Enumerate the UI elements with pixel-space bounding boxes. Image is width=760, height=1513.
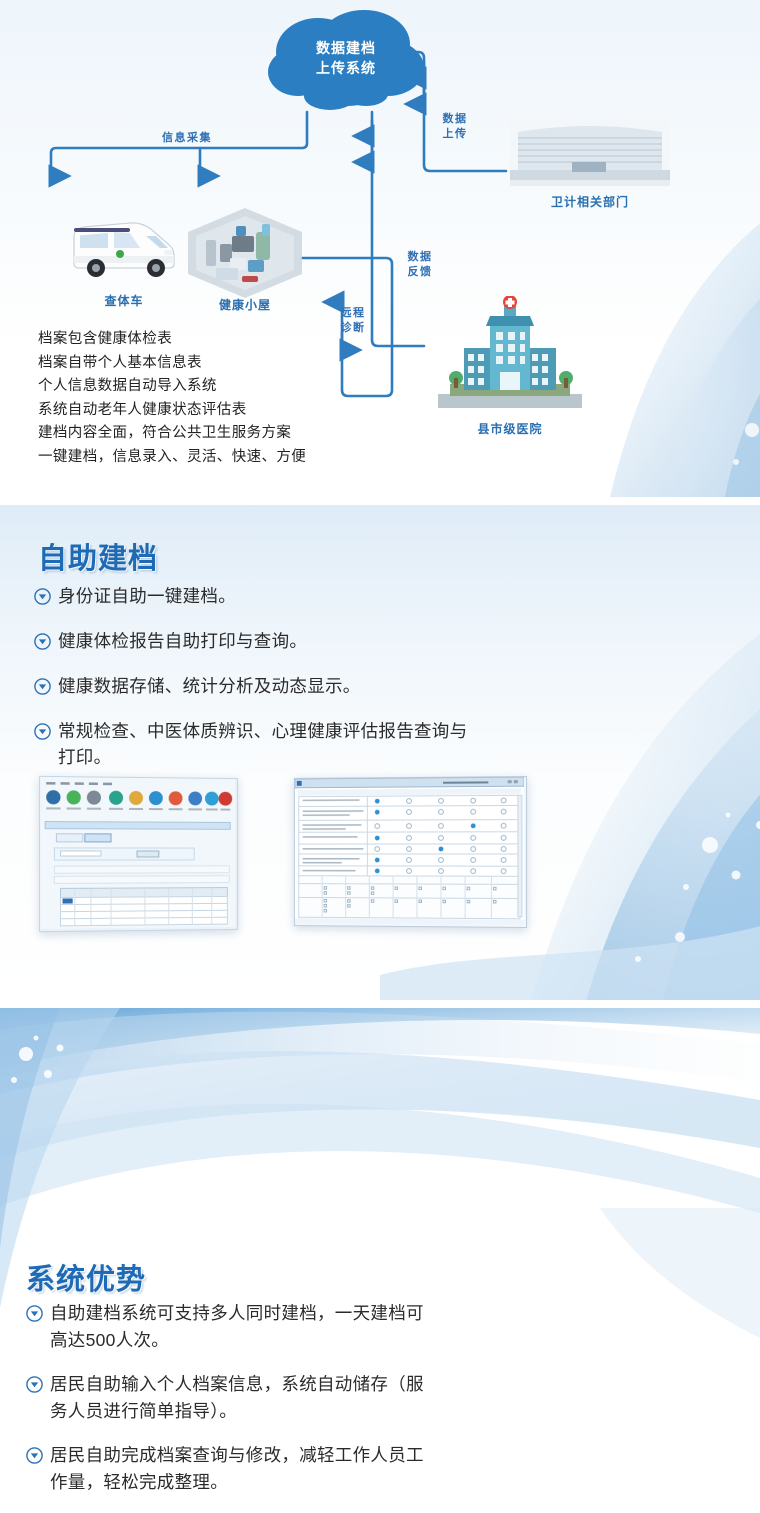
caption-hospital: 县市级医院 — [430, 420, 590, 437]
list-item: 健康数据存储、统计分析及动态显示。 — [34, 673, 524, 699]
feature-line: 档案包含健康体检表 — [38, 328, 418, 352]
section-divider-1 — [0, 497, 760, 505]
list-item-text: 常规检查、中医体质辨识、心理健康评估报告查询与打印。 — [58, 718, 468, 770]
diagram-feature-list: 档案包含健康体检表 档案自带个人基本信息表 个人信息数据自动导入系统 系统自动老… — [38, 328, 418, 469]
screenshot-elderly-health-assessment-form[interactable] — [294, 776, 527, 928]
feature-line: 系统自动老年人健康状态评估表 — [38, 399, 418, 423]
chevron-down-circle-icon — [26, 1305, 43, 1322]
chevron-down-circle-icon — [34, 723, 51, 740]
list-item-text: 健康数据存储、统计分析及动态显示。 — [58, 673, 361, 699]
flow-label-information-collection: 信息采集 — [162, 131, 212, 146]
list-item: 自助建档系统可支持多人同时建档，一天建档可高达500人次。 — [26, 1300, 466, 1354]
page-root: 数据建档 上传系统 信息采集 数据 上传 数据 反馈 远程 诊断 — [0, 0, 760, 1513]
list-item: 身份证自助一键建档。 — [34, 583, 524, 609]
list-item: 健康体检报告自助打印与查询。 — [34, 628, 524, 654]
screenshot-archive-management-content — [40, 777, 235, 929]
feature-line: 个人信息数据自动导入系统 — [38, 375, 418, 399]
list-item-text: 健康体检报告自助打印与查询。 — [58, 628, 307, 654]
section3-bullet-list: 自助建档系统可支持多人同时建档，一天建档可高达500人次。 居民自助输入个人档案… — [26, 1300, 466, 1513]
section-data-flow-diagram: 数据建档 上传系统 信息采集 数据 上传 数据 反馈 远程 诊断 — [0, 0, 760, 497]
chevron-down-circle-icon — [26, 1376, 43, 1393]
health-cabin-image — [186, 206, 304, 300]
screenshot-archive-management-window[interactable] — [39, 776, 238, 932]
chevron-down-circle-icon — [34, 633, 51, 650]
chevron-down-circle-icon — [34, 588, 51, 605]
cloud-label: 数据建档 上传系统 — [262, 38, 430, 78]
list-item-text: 居民自助完成档案查询与修改，减轻工作人员工作量，轻松完成整理。 — [50, 1442, 440, 1496]
list-item-text: 自助建档系统可支持多人同时建档，一天建档可高达500人次。 — [50, 1300, 440, 1354]
cloud-label-line1: 数据建档 — [262, 38, 430, 58]
caption-health-cabin: 健康小屋 — [186, 296, 304, 313]
list-item-text: 身份证自助一键建档。 — [58, 583, 236, 609]
cloud-node-data-archive-upload-system: 数据建档 上传系统 — [262, 8, 430, 112]
flow-label-data-feedback-l1: 数据 — [405, 250, 435, 265]
flow-label-remote-diagnosis-l1: 远程 — [338, 306, 368, 321]
flow-label-data-upload: 数据 上传 — [440, 112, 470, 142]
chevron-down-circle-icon — [34, 678, 51, 695]
chevron-down-circle-icon — [26, 1447, 43, 1464]
caption-exam-van: 查体车 — [68, 292, 180, 309]
list-item-text: 居民自助输入个人档案信息，系统自动储存（服务人员进行简单指导）。 — [50, 1371, 440, 1425]
section-system-advantages: 抗 沛 时尚美发 全家具 国家基本公共卫生服务车 — [0, 1008, 760, 1513]
list-item: 居民自助完成档案查询与修改，减轻工作人员工作量，轻松完成整理。 — [26, 1442, 466, 1496]
section3-title: 系统优势 — [26, 1256, 146, 1298]
caption-health-authority: 卫计相关部门 — [510, 193, 670, 210]
flow-label-data-feedback-l2: 反馈 — [405, 265, 435, 280]
cloud-label-line2: 上传系统 — [262, 58, 430, 78]
feature-line: 档案自带个人基本信息表 — [38, 352, 418, 376]
feature-line: 建档内容全面，符合公共卫生服务方案 — [38, 422, 418, 446]
list-item: 常规检查、中医体质辨识、心理健康评估报告查询与打印。 — [34, 718, 524, 770]
feature-line: 一键建档，信息录入、灵活、快速、方便 — [38, 446, 418, 470]
list-item: 居民自助输入个人档案信息，系统自动储存（服务人员进行简单指导）。 — [26, 1371, 466, 1425]
screenshot-assessment-form-content — [295, 777, 524, 925]
section-self-service-archiving: 自助建档 身份证自助一键建档。 健康体检报告自助打印与查询。 — [0, 505, 760, 1000]
exam-van-image — [68, 212, 180, 284]
section-divider-2 — [0, 1000, 760, 1008]
section2-title: 自助建档 — [38, 535, 158, 577]
flow-label-data-upload-l2: 上传 — [440, 127, 470, 142]
flow-label-data-upload-l1: 数据 — [440, 112, 470, 127]
county-city-hospital-image — [430, 296, 590, 414]
health-authority-building-image — [510, 118, 670, 186]
flow-label-data-feedback: 数据 反馈 — [405, 250, 435, 280]
section2-bullet-list: 身份证自助一键建档。 健康体检报告自助打印与查询。 健康数据存储、统计分析及动态… — [34, 583, 524, 789]
